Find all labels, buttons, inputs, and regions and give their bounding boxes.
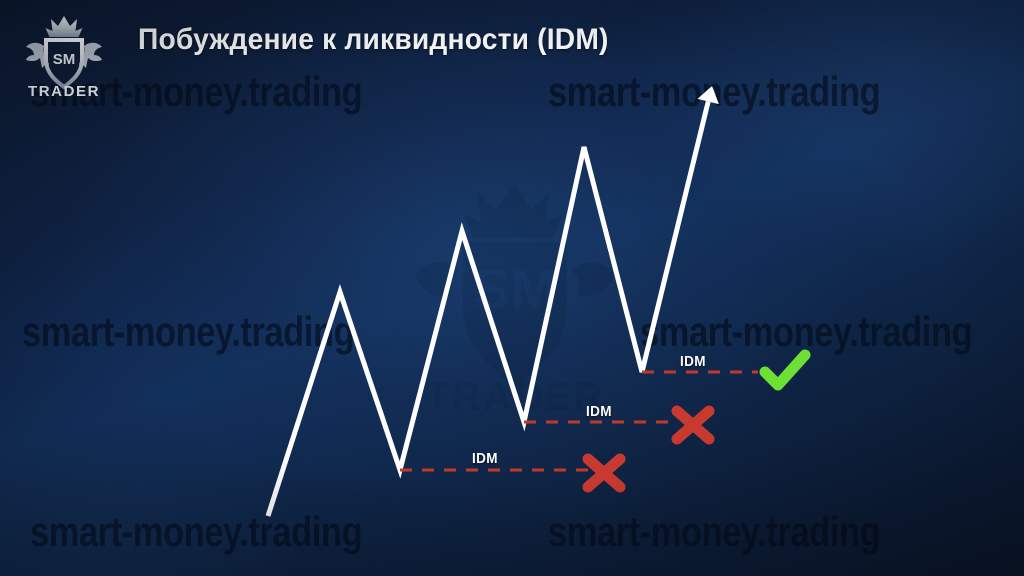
slide-canvas: smart-money.trading smart-money.trading … bbox=[0, 0, 1024, 576]
price-chart bbox=[0, 0, 1024, 576]
idm-label: IDM bbox=[586, 403, 612, 420]
idm-result-marker-cross bbox=[588, 459, 620, 487]
idm-result-marker-check bbox=[765, 355, 805, 385]
idm-label: IDM bbox=[472, 450, 498, 467]
idm-result-marker-cross bbox=[677, 411, 709, 439]
idm-label: IDM bbox=[680, 353, 706, 370]
trend-arrow-icon bbox=[698, 86, 719, 104]
